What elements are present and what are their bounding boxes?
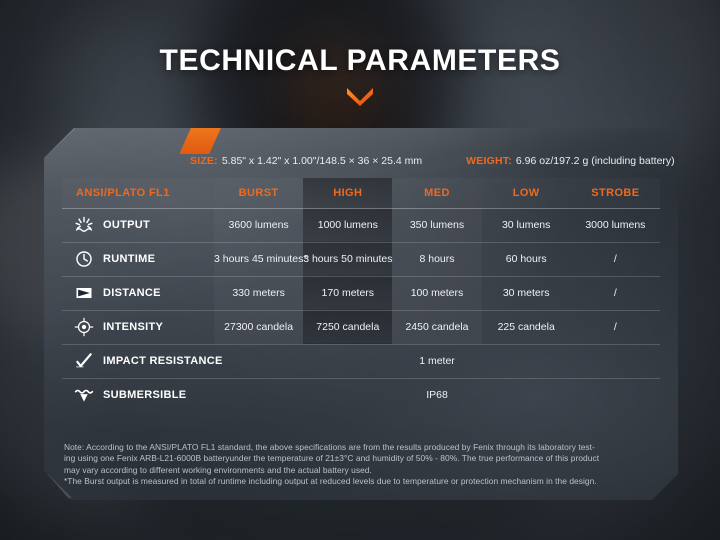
cell-intensity-burst: 27300 candela xyxy=(214,310,303,344)
specifications-table: ANSI/PLATO FL1 BURST HIGH MED LOW STROBE xyxy=(62,178,660,412)
cell-impact-resistance-value: 1 meter xyxy=(214,344,660,378)
row-label-text: SUBMERSIBLE xyxy=(103,389,186,401)
cell-distance-low: 30 meters xyxy=(482,276,571,310)
sunburst-icon xyxy=(74,215,94,235)
footnote: Note: According to the ANSI/PLATO FL1 st… xyxy=(64,442,662,488)
size-group: SIZE: 5.85" x 1.42" x 1.00"/148.5 × 36 ×… xyxy=(190,155,422,167)
row-label-runtime: RUNTIME xyxy=(62,242,214,276)
table-row: INTENSITY 27300 candela 7250 candela 245… xyxy=(62,310,660,344)
row-label-text: INTENSITY xyxy=(103,321,163,333)
weight-value: 6.96 oz/197.2 g (including battery) xyxy=(516,155,675,167)
cell-runtime-low: 60 hours xyxy=(482,242,571,276)
column-header-burst: BURST xyxy=(214,178,303,208)
column-header-high: HIGH xyxy=(303,178,392,208)
cell-runtime-med: 8 hours xyxy=(392,242,481,276)
cell-output-med: 350 lumens xyxy=(392,208,481,242)
weight-group: WEIGHT: 6.96 oz/197.2 g (including batte… xyxy=(466,155,675,167)
footnote-line-4: *The Burst output is measured in total o… xyxy=(64,476,662,488)
cell-output-burst: 3600 lumens xyxy=(214,208,303,242)
cell-output-low: 30 lumens xyxy=(482,208,571,242)
size-label: SIZE: xyxy=(190,155,218,167)
chevron-down-icon xyxy=(0,86,720,108)
table-row: DISTANCE 330 meters 170 meters 100 meter… xyxy=(62,276,660,310)
table-row: OUTPUT 3600 lumens 1000 lumens 350 lumen… xyxy=(62,208,660,242)
footnote-line-1: Note: According to the ANSI/PLATO FL1 st… xyxy=(64,442,662,454)
cell-intensity-strobe: / xyxy=(571,310,660,344)
specs-panel: SIZE: 5.85" x 1.42" x 1.00"/148.5 × 36 ×… xyxy=(44,128,678,500)
row-label-text: DISTANCE xyxy=(103,287,161,299)
row-label-text: IMPACT RESISTANCE xyxy=(103,355,223,367)
cell-intensity-high: 7250 candela xyxy=(303,310,392,344)
page-title: TECHNICAL PARAMETERS xyxy=(0,44,720,78)
row-label-distance: DISTANCE xyxy=(62,276,214,310)
screenshot-root: TECHNICAL PARAMETERS SIZE: 5.85" x 1.42" xyxy=(0,0,720,540)
column-header-med: MED xyxy=(392,178,481,208)
size-weight-bar: SIZE: 5.85" x 1.42" x 1.00"/148.5 × 36 ×… xyxy=(44,148,678,174)
impact-hammer-icon xyxy=(74,351,94,371)
table-row: IMPACT RESISTANCE 1 meter xyxy=(62,344,660,378)
table-row: RUNTIME 3 hours 45 minutes* 3 hours 50 m… xyxy=(62,242,660,276)
table-header-row: ANSI/PLATO FL1 BURST HIGH MED LOW STROBE xyxy=(62,178,660,208)
cell-output-high: 1000 lumens xyxy=(303,208,392,242)
water-drop-icon xyxy=(74,385,94,405)
cell-runtime-burst: 3 hours 45 minutes* xyxy=(214,242,303,276)
size-value: 5.85" x 1.42" x 1.00"/148.5 × 36 × 25.4 … xyxy=(222,155,422,167)
cell-intensity-low: 225 candela xyxy=(482,310,571,344)
cell-runtime-high: 3 hours 50 minutes xyxy=(303,242,392,276)
footnote-line-3: may vary according to different working … xyxy=(64,465,662,477)
column-header-low: LOW xyxy=(482,178,571,208)
footnote-line-2: ing using one Fenix ARB-L21-6000B batter… xyxy=(64,453,662,465)
row-label-output: OUTPUT xyxy=(62,208,214,242)
row-label-text: OUTPUT xyxy=(103,219,150,231)
crosshair-intensity-icon xyxy=(74,317,94,337)
clock-icon xyxy=(74,249,94,269)
cell-distance-high: 170 meters xyxy=(303,276,392,310)
cell-distance-burst: 330 meters xyxy=(214,276,303,310)
cell-submersible-value: IP68 xyxy=(214,378,660,412)
weight-label: WEIGHT: xyxy=(466,155,512,167)
row-label-submersible: SUBMERSIBLE xyxy=(62,378,214,412)
column-header-strobe: STROBE xyxy=(571,178,660,208)
cell-runtime-strobe: / xyxy=(571,242,660,276)
column-header-standard: ANSI/PLATO FL1 xyxy=(62,178,214,208)
row-label-text: RUNTIME xyxy=(103,253,155,265)
beam-distance-icon xyxy=(74,283,94,303)
cell-intensity-med: 2450 candela xyxy=(392,310,481,344)
table-row: SUBMERSIBLE IP68 xyxy=(62,378,660,412)
cell-distance-med: 100 meters xyxy=(392,276,481,310)
cell-output-strobe: 3000 lumens xyxy=(571,208,660,242)
cell-distance-strobe: / xyxy=(571,276,660,310)
row-label-intensity: INTENSITY xyxy=(62,310,214,344)
row-label-impact-resistance: IMPACT RESISTANCE xyxy=(62,344,214,378)
